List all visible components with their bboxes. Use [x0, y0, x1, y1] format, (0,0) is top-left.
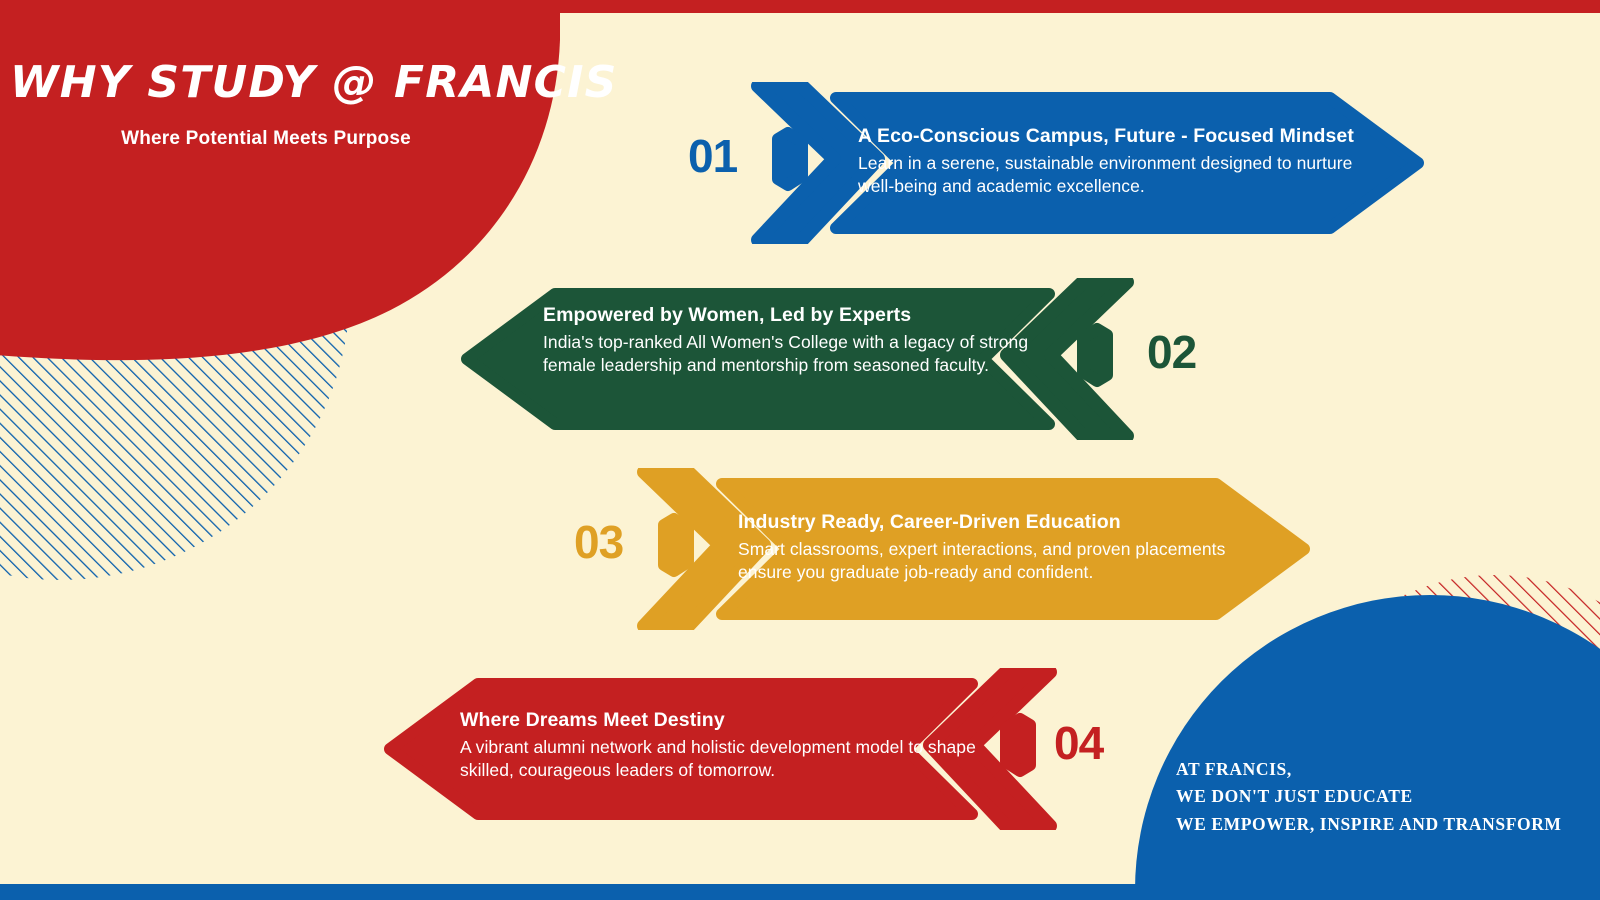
item-body-04: A vibrant alumni network and holistic de… [460, 736, 980, 783]
item-number-01: 01 [688, 133, 737, 179]
page-subtitle: Where Potential Meets Purpose [0, 128, 520, 150]
item-heading-04: Where Dreams Meet Destiny [460, 708, 980, 733]
item-number-04: 04 [1054, 720, 1103, 766]
feature-item-02[interactable]: 02 Empowered by Women, Led by Experts In… [455, 278, 1135, 440]
item-body-01: Learn in a serene, sustainable environme… [858, 152, 1378, 199]
item-number-02: 02 [1147, 329, 1196, 375]
statement-line-3: WE EMPOWER, INSPIRE AND TRANSFORM [1176, 811, 1562, 838]
closing-statement: AT FRANCIS, WE DON'T JUST EDUCATE WE EMP… [1176, 756, 1562, 838]
item-heading-02: Empowered by Women, Led by Experts [543, 303, 1053, 328]
infographic-canvas: WHY STUDY @ FRANCIS Where Potential Meet… [0, 0, 1600, 900]
feature-item-03[interactable]: 03 Industry Ready, Career-Driven Educati… [636, 468, 1316, 630]
bottom-blue-bar [0, 884, 1600, 900]
page-title: WHY STUDY @ FRANCIS [0, 60, 520, 106]
feature-item-04[interactable]: 04 Where Dreams Meet Destiny A vibrant a… [378, 668, 1058, 830]
item-text-02: Empowered by Women, Led by Experts India… [543, 303, 1053, 377]
item-text-03: Industry Ready, Career-Driven Education … [738, 510, 1258, 584]
feature-item-01[interactable]: 01 A Eco-Conscious Campus, Future - Focu… [750, 82, 1430, 244]
item-body-02: India's top-ranked All Women's College w… [543, 331, 1053, 378]
header-block: WHY STUDY @ FRANCIS Where Potential Meet… [0, 60, 520, 150]
item-body-03: Smart classrooms, expert interactions, a… [738, 538, 1258, 585]
statement-line-2: WE DON'T JUST EDUCATE [1176, 783, 1562, 810]
item-heading-03: Industry Ready, Career-Driven Education [738, 510, 1258, 535]
item-text-04: Where Dreams Meet Destiny A vibrant alum… [460, 708, 980, 782]
item-number-03: 03 [574, 519, 623, 565]
statement-line-1: AT FRANCIS, [1176, 756, 1562, 783]
top-red-bar [0, 0, 1600, 13]
item-heading-01: A Eco-Conscious Campus, Future - Focused… [858, 124, 1378, 149]
item-text-01: A Eco-Conscious Campus, Future - Focused… [858, 124, 1378, 198]
